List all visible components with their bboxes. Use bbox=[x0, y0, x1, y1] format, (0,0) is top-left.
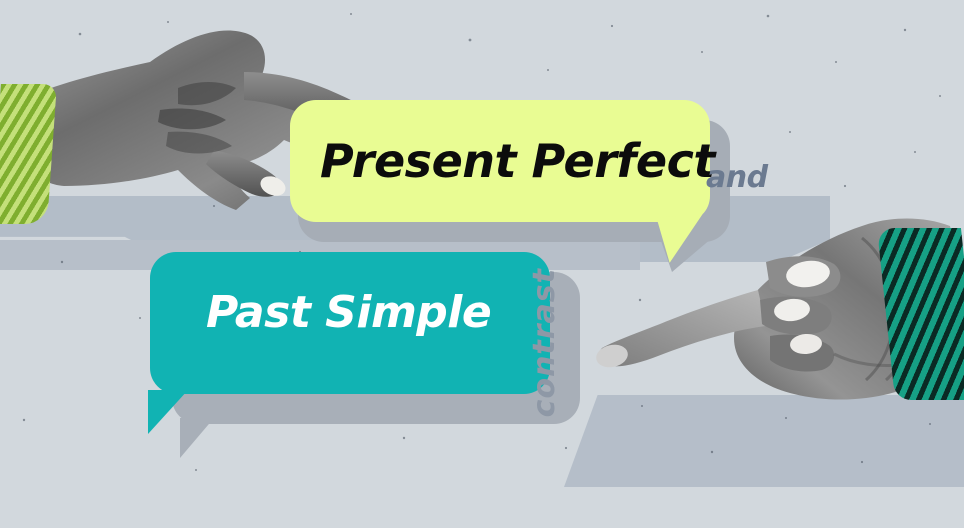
sleeve-left-striped-icon bbox=[0, 84, 57, 224]
bubble-tail-icon bbox=[656, 214, 705, 263]
bubble-label-past-simple: Past Simple bbox=[206, 287, 491, 338]
bubble-label-present-perfect: Present Perfect bbox=[320, 134, 715, 188]
vertical-contrast-label: contrast bbox=[527, 268, 562, 417]
speech-bubble-past-simple[interactable]: Past Simple bbox=[150, 252, 550, 394]
poster-canvas: Present Perfect Past Simple and contrast bbox=[0, 0, 964, 528]
speech-bubble-present-perfect[interactable]: Present Perfect bbox=[290, 100, 710, 222]
conjunction-label: and bbox=[706, 160, 768, 195]
bubble-tail-icon bbox=[148, 390, 188, 434]
